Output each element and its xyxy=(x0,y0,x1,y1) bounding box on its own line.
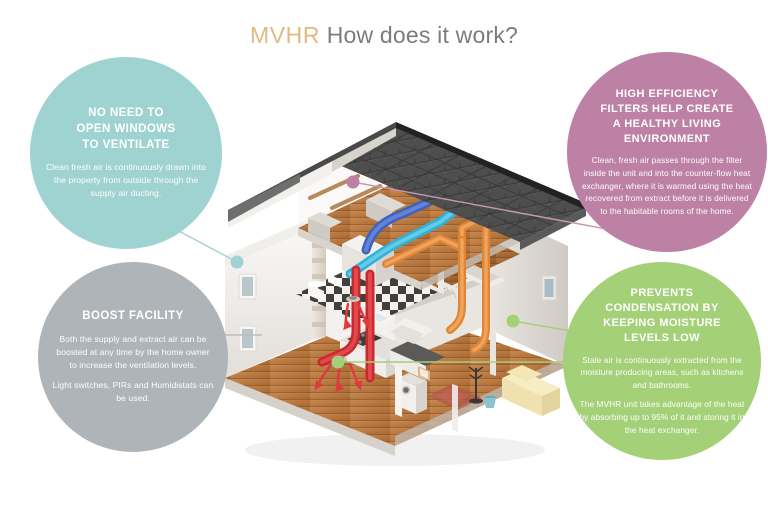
callout-heading: BOOST FACILITY xyxy=(82,309,184,325)
callout-paragraph-2: The MVHR unit takes advantage of the hea… xyxy=(577,398,747,436)
callout-boost-facility[interactable]: BOOST FACILITY Both the supply and extra… xyxy=(38,262,228,452)
moisture-connector-dot-lower xyxy=(332,356,345,369)
callout-heading: NO NEED TO OPEN WINDOWS TO VENTILATE xyxy=(76,106,175,154)
callout-paragraph-2: Light switches, PIRs and Humidistats can… xyxy=(52,379,214,405)
infographic-canvas: MVHR How does it work? xyxy=(0,0,768,512)
callout-heading: PREVENTS CONDENSATION BY KEEPING MOISTUR… xyxy=(603,286,721,347)
callout-paragraph: Clean fresh air is continuously drawn in… xyxy=(44,161,208,200)
windows-connector-dot xyxy=(231,256,244,269)
callout-paragraph: Clean, fresh air passes through the filt… xyxy=(581,154,753,217)
callout-heading: HIGH EFFICIENCY FILTERS HELP CREATE A HE… xyxy=(600,87,733,148)
callout-paragraph-1: Both the supply and extract air can be b… xyxy=(52,333,214,372)
filters-connector-dot xyxy=(347,176,360,189)
callout-high-efficiency-filters[interactable]: HIGH EFFICIENCY FILTERS HELP CREATE A HE… xyxy=(567,52,767,252)
callout-paragraph-1: Stale air is continuously extracted from… xyxy=(577,354,747,392)
callout-no-need-to-open-windows[interactable]: NO NEED TO OPEN WINDOWS TO VENTILATE Cle… xyxy=(30,57,222,249)
moisture-connector-dot-upper xyxy=(507,315,520,328)
callout-prevents-condensation[interactable]: PREVENTS CONDENSATION BY KEEPING MOISTUR… xyxy=(563,262,761,460)
